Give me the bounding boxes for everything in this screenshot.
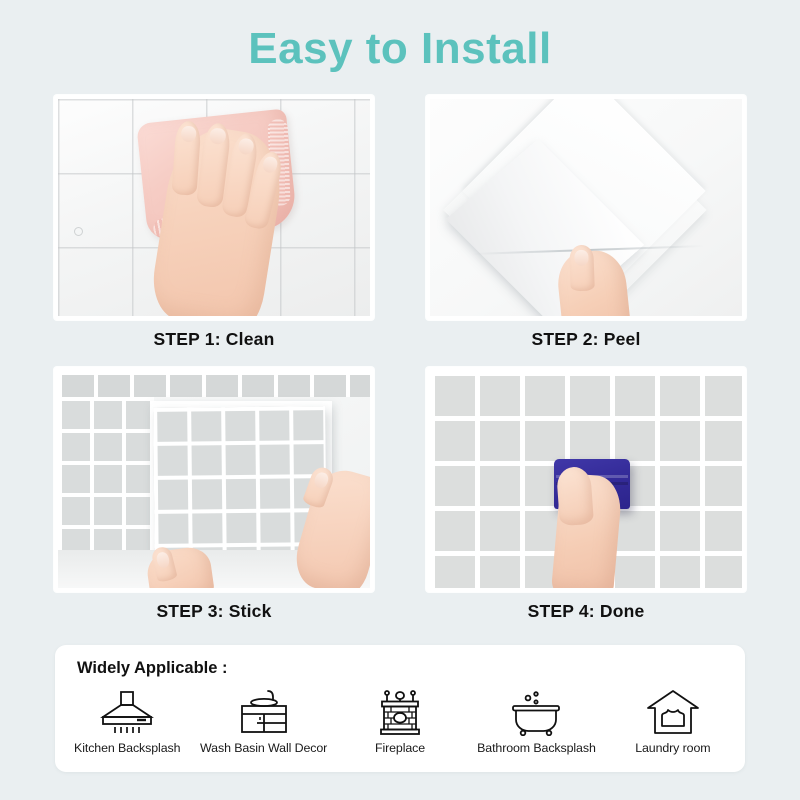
application-item-fireplace: Fireplace xyxy=(332,688,468,755)
fingernail xyxy=(574,250,589,266)
step-label-3: STEP 3: Stick xyxy=(54,601,374,622)
fingernail xyxy=(312,471,330,491)
photo-frame-step-4 xyxy=(426,367,746,592)
photo-step-2-peel xyxy=(430,99,742,316)
fingernail xyxy=(180,126,196,143)
step-card-3: STEP 3: Stick xyxy=(54,367,374,622)
step-card-2: STEP 2: Peel xyxy=(426,95,746,350)
step-card-4: STEP 4: Done xyxy=(426,367,746,622)
range-hood-icon xyxy=(99,688,155,736)
application-label: Bathroom Backsplash xyxy=(477,741,596,755)
wash-basin-vanity-icon xyxy=(235,688,293,736)
photo-frame-step-3 xyxy=(54,367,374,592)
application-label: Wash Basin Wall Decor xyxy=(200,741,327,755)
thumb-peeling xyxy=(569,245,595,292)
application-label: Laundry room xyxy=(635,741,710,755)
applications-card: Widely Applicable : Kitchen Backsplash xyxy=(55,645,745,772)
step-label-1: STEP 1: Clean xyxy=(54,329,374,350)
application-item-laundry-room: Laundry room xyxy=(605,688,741,755)
mosaic-sheet-applied xyxy=(58,397,154,567)
application-label: Kitchen Backsplash xyxy=(74,741,180,755)
fingernail xyxy=(209,127,226,145)
photo-step-1-clean xyxy=(58,99,370,316)
photo-frame-step-1 xyxy=(54,95,374,320)
applications-list: Kitchen Backsplash Wash Basin Wall Decor xyxy=(59,688,741,755)
photo-step-3-stick xyxy=(58,371,370,588)
bathtub-icon xyxy=(506,688,566,736)
application-item-kitchen-backsplash: Kitchen Backsplash xyxy=(59,688,195,755)
photo-frame-step-2 xyxy=(426,95,746,320)
application-item-wash-basin: Wash Basin Wall Decor xyxy=(195,688,331,755)
application-item-bathroom-backsplash: Bathroom Backsplash xyxy=(468,688,604,755)
thumb-on-squeegee xyxy=(556,466,594,526)
step-label-2: STEP 2: Peel xyxy=(426,329,746,350)
fingernail xyxy=(261,155,279,174)
house-with-shirt-icon xyxy=(646,688,700,736)
photo-step-4-done xyxy=(430,371,742,588)
mosaic-top-strip xyxy=(58,371,370,397)
page-title: Easy to Install xyxy=(0,24,800,74)
fingernail xyxy=(237,137,255,155)
step-card-1: STEP 1: Clean xyxy=(54,95,374,350)
fireplace-icon xyxy=(375,688,425,736)
application-label: Fireplace xyxy=(375,741,425,755)
steps-grid: STEP 1: Clean STEP 2: Peel xyxy=(54,95,746,622)
applications-heading: Widely Applicable : xyxy=(77,659,228,678)
fingernail xyxy=(155,551,171,569)
step-label-4: STEP 4: Done xyxy=(426,601,746,622)
